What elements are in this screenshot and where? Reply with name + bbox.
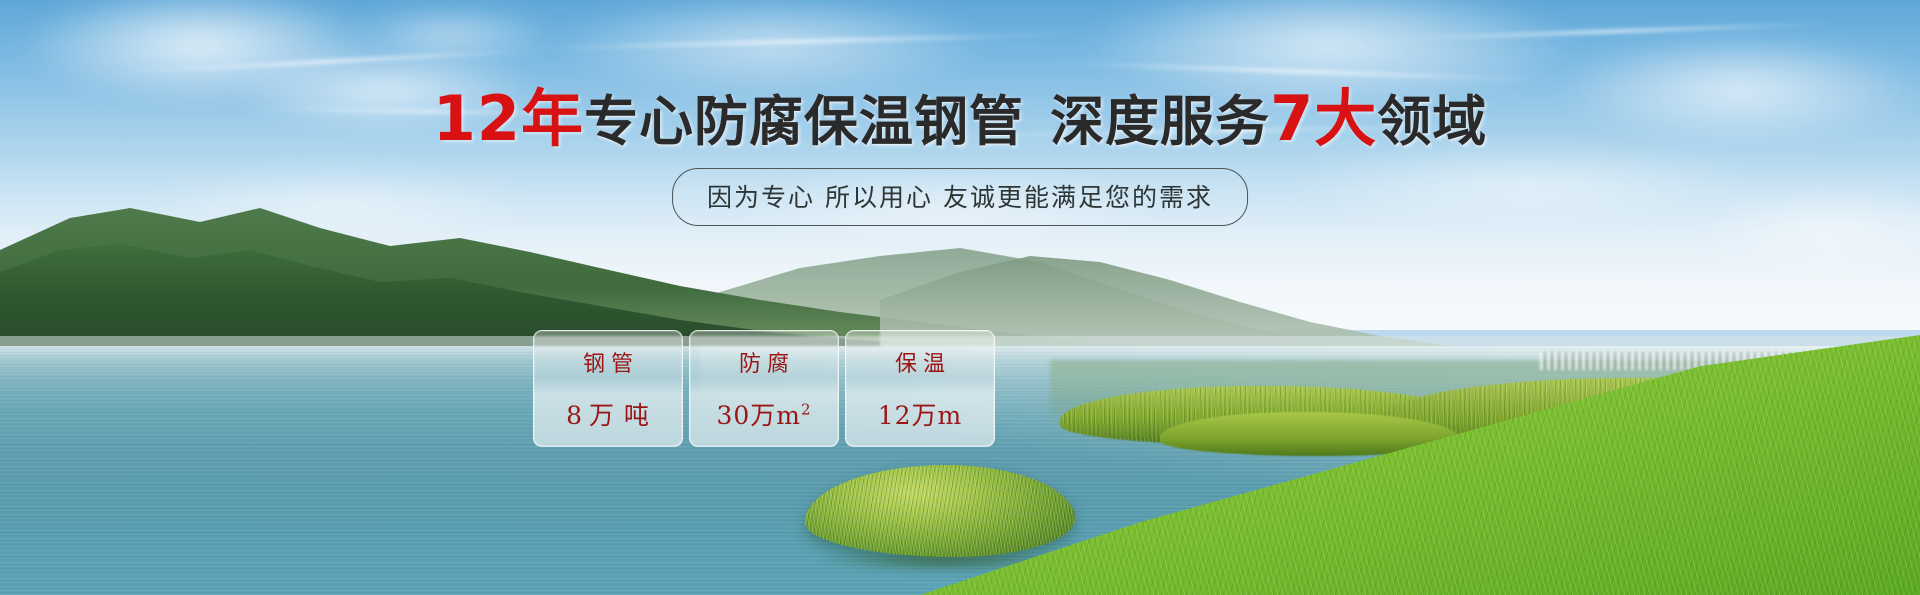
stat-card-insulation[interactable]: 保温 12万m [845, 330, 995, 447]
subtitle-pill: 因为专心 所以用心 友诚更能满足您的需求 [672, 168, 1248, 226]
hero-banner: 12年专心防腐保温钢管深度服务7大领域 因为专心 所以用心 友诚更能满足您的需求… [0, 0, 1920, 595]
headline-service: 深度服务 [1050, 90, 1270, 153]
stat-cards: 钢管 8万 吨 防腐 30万m2 保温 12万m [533, 330, 995, 447]
stat-value-unit: 万m [912, 401, 963, 430]
stat-card-value: 8万 吨 [566, 396, 650, 432]
stat-value-unit: 万m [750, 401, 801, 430]
stat-card-title: 钢管 [583, 346, 639, 378]
headline-seven-unit: 大 [1314, 82, 1377, 155]
headline-years: 12 [433, 82, 521, 155]
stat-card-title: 保温 [895, 346, 951, 378]
stat-value-number: 12 [878, 401, 912, 430]
stat-card-value: 30万m2 [716, 396, 811, 432]
stat-value-superscript: 2 [801, 400, 812, 418]
headline-fields: 领域 [1377, 90, 1487, 153]
page-title: 12年专心防腐保温钢管深度服务7大领域 [0, 88, 1920, 150]
stat-value-number: 30 [716, 401, 750, 430]
stat-card-anticorrosion[interactable]: 防腐 30万m2 [689, 330, 839, 447]
headline-main: 专心防腐保温钢管 [584, 90, 1024, 153]
stat-value-unit: 万 吨 [589, 401, 650, 430]
stat-value-number: 8 [566, 401, 583, 430]
headline-seven: 7 [1270, 82, 1314, 155]
headline-years-unit: 年 [521, 82, 584, 155]
stat-card-steel-pipe[interactable]: 钢管 8万 吨 [533, 330, 683, 447]
stat-card-title: 防腐 [739, 346, 795, 378]
stat-card-value: 12万m [878, 396, 963, 432]
